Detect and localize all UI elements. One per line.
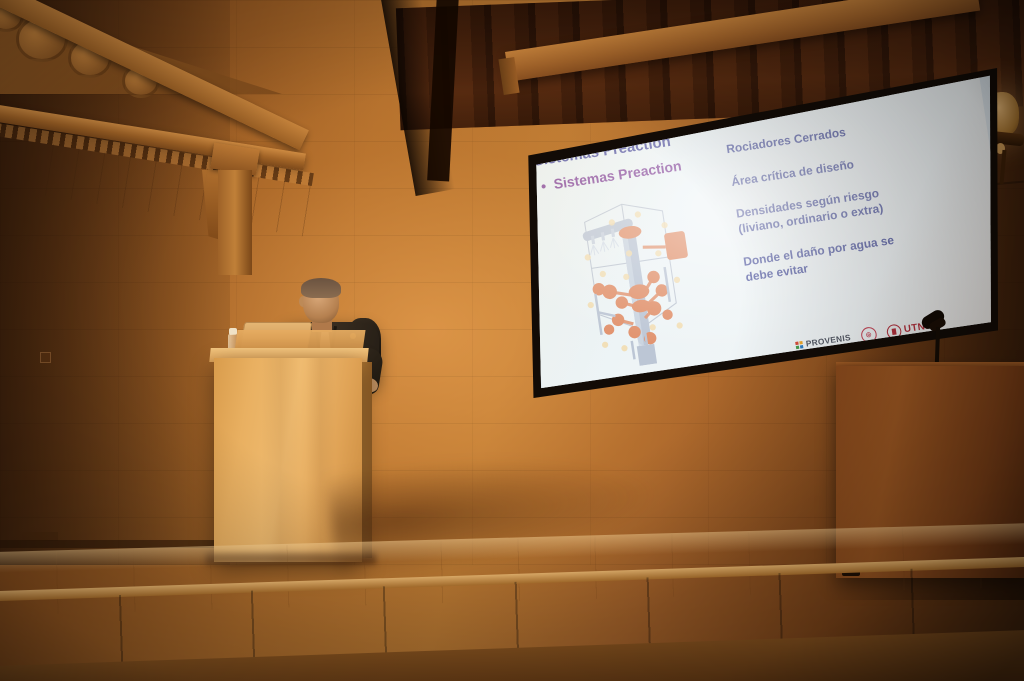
preaction-sprinkler-valve-diagram [560, 177, 710, 374]
bullet-dot-icon [541, 185, 546, 190]
pilaster-shaft [218, 170, 252, 275]
wall-plate-fixture [40, 352, 51, 363]
slide-points-list: Rociadores Cerrados Área crítica de dise… [725, 107, 995, 303]
presentation-scene: Sistemas de extinción a Base de Agua Sis… [0, 0, 1024, 681]
provenis-squares-icon [795, 341, 803, 349]
speaker-hair [301, 278, 341, 298]
